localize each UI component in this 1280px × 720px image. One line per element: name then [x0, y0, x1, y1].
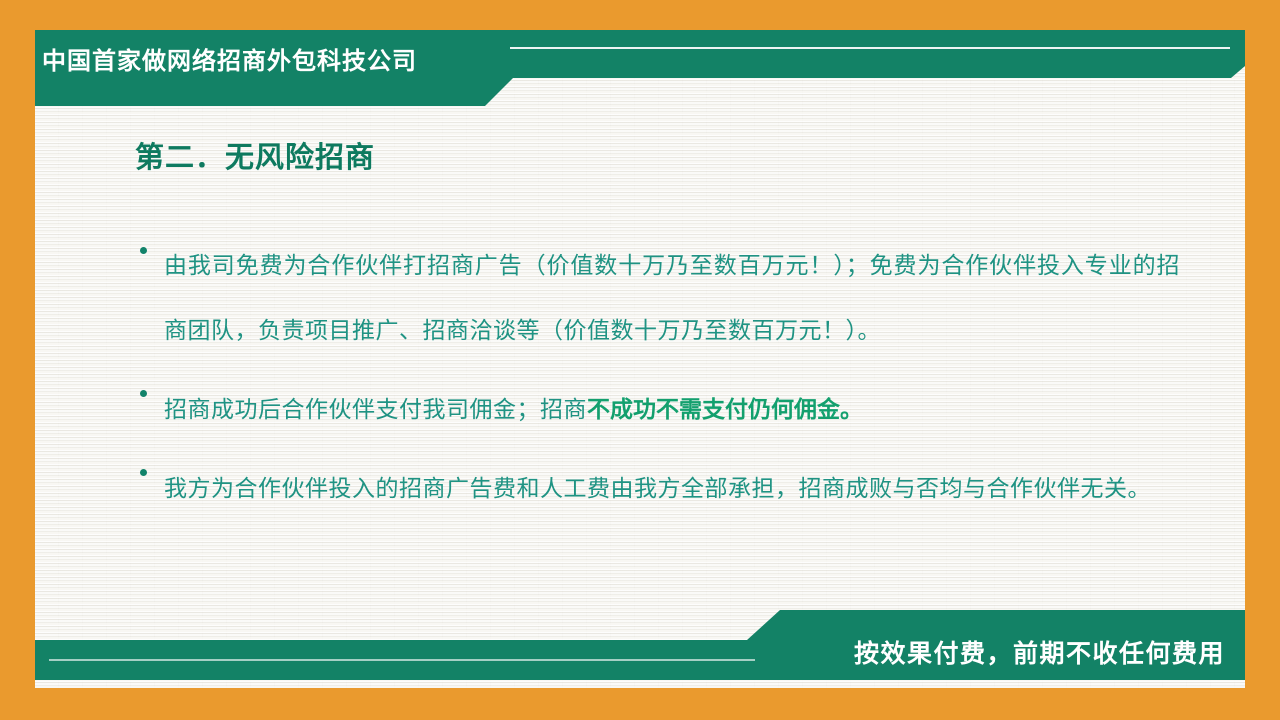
header-band: 中国首家做网络招商外包科技公司: [35, 30, 1245, 106]
bullet-dot-icon: [140, 234, 164, 254]
bullet-text-main: 由我司免费为合作伙伴打招商广告（价值数十万乃至数百万元！）；免费为合作伙伴投入专…: [164, 253, 1180, 343]
content-area: 第二．无风险招商 由我司免费为合作伙伴打招商广告（价值数十万乃至数百万元！）；免…: [35, 106, 1245, 666]
bullet-list: 由我司免费为合作伙伴打招商广告（价值数十万乃至数百万元！）；免费为合作伙伴投入专…: [140, 234, 1180, 535]
footer-title: 按效果付费，前期不收任何费用: [854, 634, 1225, 670]
list-item: 我方为合作伙伴投入的招商广告费和人工费由我方全部承担，招商成败与否均与合作伙伴无…: [140, 456, 1180, 521]
bullet-text: 我方为合作伙伴投入的招商广告费和人工费由我方全部承担，招商成败与否均与合作伙伴无…: [164, 456, 1180, 521]
bullet-text: 招商成功后合作伙伴支付我司佣金；招商不成功不需支付仍何佣金。: [164, 377, 1180, 442]
list-item: 招商成功后合作伙伴支付我司佣金；招商不成功不需支付仍何佣金。: [140, 377, 1180, 442]
bullet-text-main: 招商成功后合作伙伴支付我司佣金；招商: [164, 397, 587, 422]
bullet-text-main: 我方为合作伙伴投入的招商广告费和人工费由我方全部承担，招商成败与否均与合作伙伴无…: [164, 476, 1151, 501]
slide-paper: 中国首家做网络招商外包科技公司 第二．无风险招商 由我司免费为合作伙伴打招商广告…: [35, 30, 1245, 688]
slide: 中国首家做网络招商外包科技公司 第二．无风险招商 由我司免费为合作伙伴打招商广告…: [0, 0, 1280, 720]
bullet-text-emphasis: 不成功不需支付仍何佣金。: [587, 396, 863, 422]
bullet-dot-icon: [140, 456, 164, 476]
bullet-text: 由我司免费为合作伙伴打招商广告（价值数十万乃至数百万元！）；免费为合作伙伴投入专…: [164, 234, 1180, 363]
list-item: 由我司免费为合作伙伴打招商广告（价值数十万乃至数百万元！）；免费为合作伙伴投入专…: [140, 234, 1180, 363]
footer-rule-line: [49, 659, 755, 661]
bullet-dot-icon: [140, 377, 164, 397]
header-rule-line: [510, 47, 1230, 49]
header-title: 中国首家做网络招商外包科技公司: [42, 41, 417, 76]
section-title: 第二．无风险招商: [135, 134, 375, 176]
